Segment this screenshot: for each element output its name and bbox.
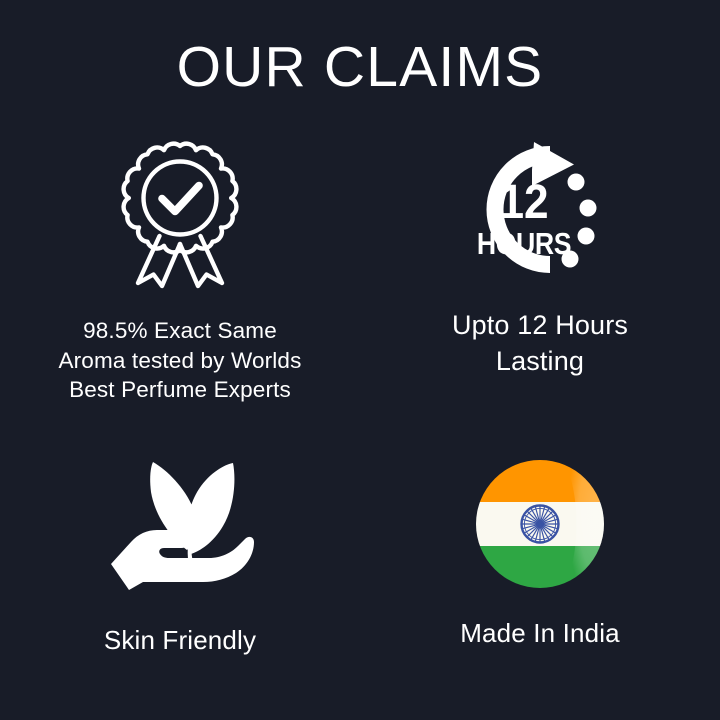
our-claims-poster: OUR CLAIMS 98.5% Exact Same Ar [0, 0, 720, 720]
claim-line: Lasting [452, 344, 628, 380]
india-flag-circle-icon [474, 458, 606, 590]
claim-line: Made In India [460, 616, 620, 650]
claim-item-made-in-india: Made In India [360, 412, 720, 692]
clock-hours-label: HOURS [477, 227, 571, 261]
hand-holding-plant-icon [105, 458, 255, 593]
claim-line: Upto 12 Hours [452, 308, 628, 344]
claim-text-twelve-hours: Upto 12 Hours Lasting [452, 308, 628, 379]
claim-line: Aroma tested by Worlds [59, 346, 302, 376]
clock-dot-icon [580, 200, 597, 217]
page-title: OUR CLAIMS [0, 38, 720, 98]
claim-text-skin-friendly: Skin Friendly [104, 623, 256, 657]
twelve-hours-clock-arrow-icon: 12 HOURS [462, 140, 618, 280]
claim-item-twelve-hours: 12 HOURS Upto 12 Hours Lasting [360, 132, 720, 412]
claim-line: Best Perfume Experts [59, 375, 302, 405]
claims-grid: 98.5% Exact Same Aroma tested by Worlds … [0, 132, 720, 692]
ashoka-chakra-icon [522, 506, 559, 543]
claim-line: Skin Friendly [104, 623, 256, 657]
claim-text-exact-aroma: 98.5% Exact Same Aroma tested by Worlds … [59, 316, 302, 405]
award-badge-check-icon [114, 140, 246, 290]
claim-item-skin-friendly: Skin Friendly [0, 412, 360, 692]
clock-dot-icon [568, 174, 585, 191]
clock-dot-icon [578, 228, 595, 245]
claim-line: 98.5% Exact Same [59, 316, 302, 346]
claim-text-made-in-india: Made In India [460, 616, 620, 650]
clock-hours-number: 12 [499, 174, 548, 228]
claim-item-exact-aroma: 98.5% Exact Same Aroma tested by Worlds … [0, 132, 360, 412]
